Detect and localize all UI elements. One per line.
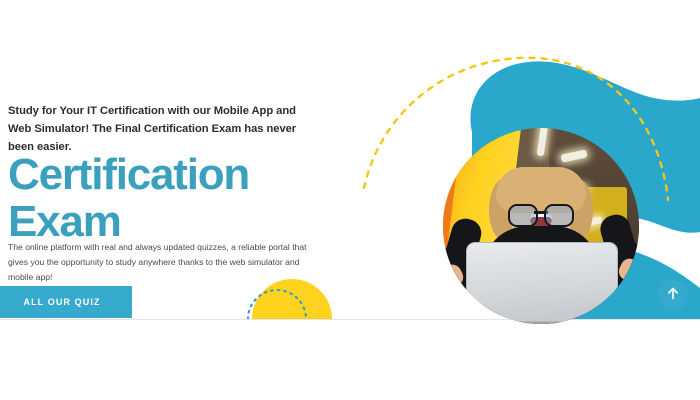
page-title-line-1: Certification (8, 150, 249, 199)
page-title: Certification Exam (8, 152, 328, 245)
bottom-decoration-group (230, 272, 420, 320)
arrow-up-icon (667, 287, 679, 303)
hero-section: Study for Your IT Certification with our… (0, 0, 700, 400)
hero-photo (443, 128, 639, 324)
yellow-semicircle (252, 279, 332, 319)
hero-eyebrow: Study for Your IT Certification with our… (8, 102, 308, 156)
page-title-line-2: Exam (8, 197, 121, 246)
all-our-quiz-button[interactable]: ALL OUR QUIZ (0, 286, 132, 318)
scroll-to-top-button[interactable] (658, 280, 688, 310)
